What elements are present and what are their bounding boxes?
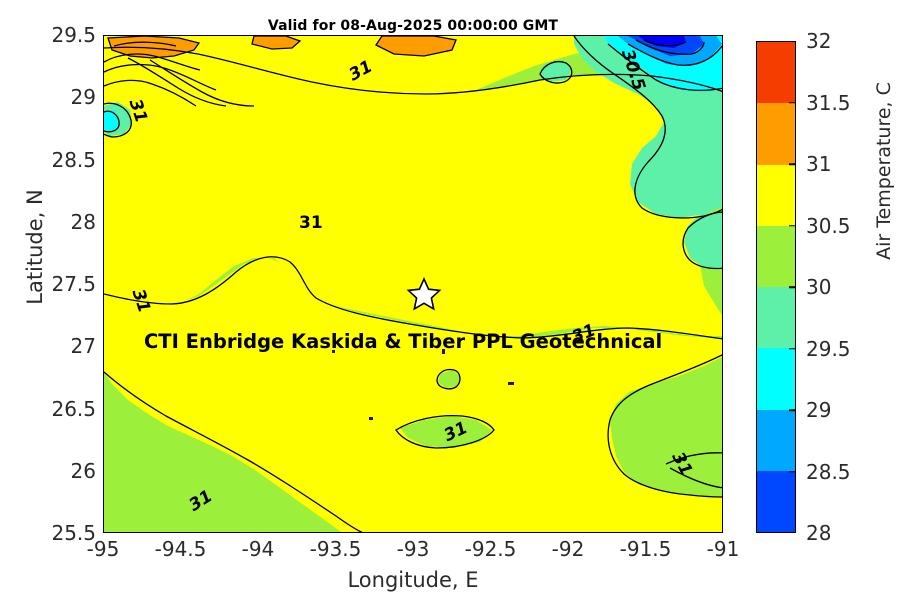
x-tick-label: -92: [528, 537, 608, 561]
site-marker-label: CTI Enbridge Kaskida & Tiber PPL Geotech…: [144, 330, 662, 353]
contour-field: [104, 36, 723, 533]
x-tick-label: -91.5: [606, 537, 686, 561]
contour-label: 31: [299, 213, 323, 233]
y-tick-label: 29.5: [40, 23, 96, 47]
x-tick-label: -94.5: [141, 537, 221, 561]
colorbar-tick-label: 30: [806, 275, 831, 299]
colorbar-tick-label: 30.5: [806, 214, 851, 238]
page-title: Valid for 08-Aug-2025 00:00:00 GMT: [103, 18, 723, 34]
colorbar-tick-label: 28: [806, 521, 831, 545]
y-tick-label: 27: [40, 334, 96, 358]
y-tick-label: 29: [40, 85, 96, 109]
y-tick-label: 26.5: [40, 397, 96, 421]
x-tick-label: -92.5: [451, 537, 531, 561]
colorbar-tick-label: 29.5: [806, 337, 851, 361]
y-tick-label: 27.5: [40, 272, 96, 296]
x-tick-label: -94: [218, 537, 298, 561]
x-tick-label: -93.5: [296, 537, 376, 561]
y-tick-label: 26: [40, 459, 96, 483]
x-axis-ticks: -95 -94.5 -94 -93.5 -93 -92.5 -92 -91.5 …: [103, 537, 723, 571]
colorbar-tick-mark: [789, 471, 796, 473]
colorbar-tick-label: 31.5: [806, 91, 851, 115]
x-tick-label: -93: [373, 537, 453, 561]
y-tick-label: 28: [40, 210, 96, 234]
colorbar-tick-mark: [789, 409, 796, 411]
x-tick-label: -91: [683, 537, 763, 561]
colorbar-tick-mark: [789, 348, 796, 350]
x-axis-title: Longitude, E: [103, 568, 723, 592]
colorbar-tick-mark: [789, 163, 796, 165]
colorbar-tick-label: 28.5: [806, 460, 851, 484]
x-tick-label: -95: [63, 537, 143, 561]
colorbar-tick-label: 32: [806, 29, 831, 53]
colorbar-tick-mark: [789, 102, 796, 104]
colorbar-tick-label: 29: [806, 398, 831, 422]
contour-plot-axes: 31 31 30.5 31 31 31 31 31 31 CTI Enbridg…: [103, 35, 723, 533]
colorbar-tick-mark: [789, 286, 796, 288]
colorbar-title: Air Temperature, C: [873, 41, 895, 301]
colorbar-tick-label: 31: [806, 152, 831, 176]
y-axis-title: Latitude, N: [23, 127, 47, 367]
colorbar-tick-mark: [789, 225, 796, 227]
y-tick-label: 28.5: [40, 148, 96, 172]
